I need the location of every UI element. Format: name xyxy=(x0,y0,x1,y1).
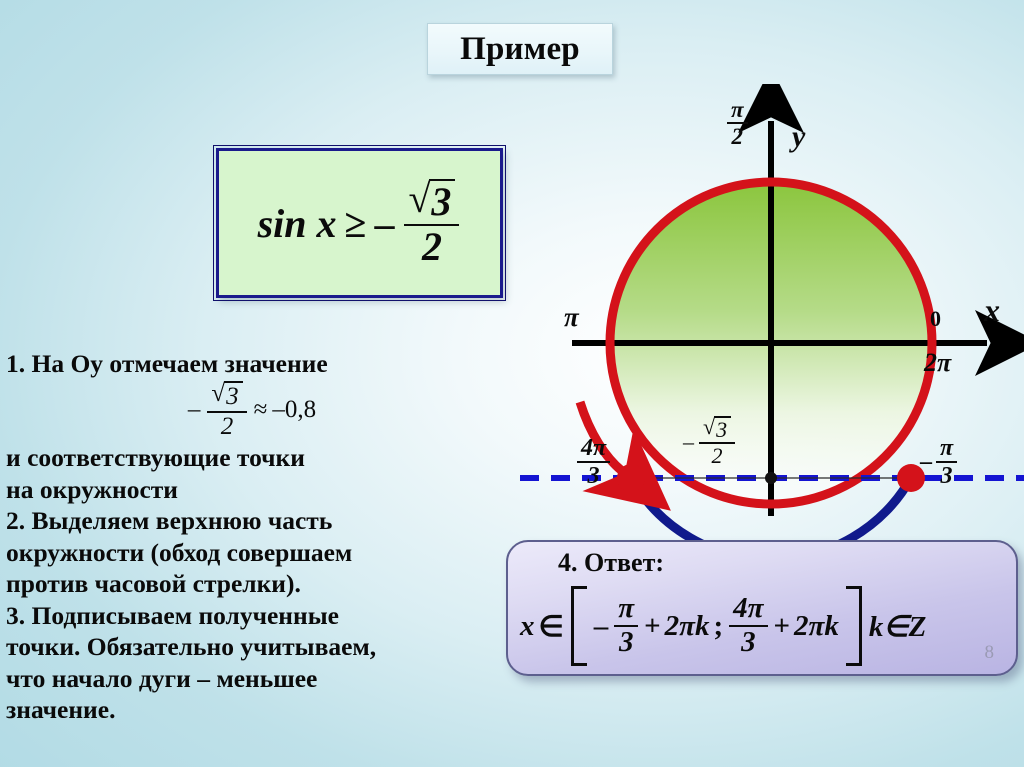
slide-canvas: Пример sin x ≥ – √ 3 2 1. На Оу отмечаем… xyxy=(0,0,1024,767)
slide-title-box: Пример xyxy=(427,23,613,75)
answer-plus-1: + xyxy=(644,610,661,643)
formula-relation: ≥ xyxy=(345,200,367,247)
bracket-right-icon xyxy=(846,586,862,666)
label-two-pi: 2π xyxy=(924,348,951,378)
bracket-left-icon xyxy=(571,586,587,666)
sqrt-icon: √ 3 xyxy=(703,416,731,441)
page-title: Пример xyxy=(460,31,580,68)
step2-line3: против часовой стрелки). xyxy=(6,568,498,599)
label-pi: π xyxy=(564,302,579,333)
label-zero: 0 xyxy=(930,306,941,332)
step3-line4: значение. xyxy=(6,694,498,725)
steps-text-block: 1. На Оу отмечаем значение – √ 3 2 ≈ –0,… xyxy=(6,348,498,726)
step3-line1: 3. Подписываем полученные xyxy=(6,600,498,631)
answer-variable: x xyxy=(520,610,535,643)
answer-period-2: 2πk xyxy=(794,610,839,643)
answer-minus: – xyxy=(594,610,609,643)
intersection-point-left[interactable] xyxy=(617,464,645,492)
answer-suffix: k∈Z xyxy=(869,609,926,644)
inline-fraction-denominator: 2 xyxy=(217,413,238,440)
inline-fraction: √ 3 2 xyxy=(207,381,246,439)
axis-label-y: y xyxy=(792,120,805,154)
unit-circle-diagram: π 2 y π 0 2π x 4π 3 – π 3 xyxy=(520,84,1024,544)
label-pi-over-two: π 2 xyxy=(725,98,750,149)
label-four-pi-over-three: 4π 3 xyxy=(575,436,612,489)
sqrt-icon: √ 3 xyxy=(211,381,242,410)
formula-minus: – xyxy=(374,200,394,247)
inline-value-formula: – √ 3 2 ≈ –0,8 xyxy=(188,381,316,439)
inequality-expression: sin x ≥ – √ 3 2 xyxy=(258,179,462,268)
formula-lhs: sin x xyxy=(258,200,337,247)
element-of-sign: ∈ xyxy=(539,609,564,644)
answer-separator: ; xyxy=(713,610,723,643)
inline-fraction-numerator: √ 3 xyxy=(207,381,246,413)
slide-number: 8 xyxy=(985,642,995,664)
answer-term2-fraction: 4π 3 xyxy=(729,594,767,657)
answer-formula: x ∈ – π 3 + 2πk ; 4π 3 + 2πk k∈Z xyxy=(520,586,926,666)
step1-line1: 1. На Оу отмечаем значение xyxy=(6,348,498,379)
answer-period-1: 2πk xyxy=(665,610,710,643)
approx-sign: ≈ xyxy=(254,395,268,426)
axis-label-x: x xyxy=(984,292,1000,329)
formula-fraction-numerator: √ 3 xyxy=(404,179,459,226)
label-value-neg-sqrt3-over-2: – √ 3 2 xyxy=(683,416,737,468)
formula-fraction: √ 3 2 xyxy=(404,179,459,268)
answer-plus-2: + xyxy=(774,610,791,643)
step2-line1: 2. Выделяем верхнюю часть xyxy=(6,505,498,536)
step1-line3: на окружности xyxy=(6,474,498,505)
answer-box: 4. Ответ: x ∈ – π 3 + 2πk ; 4π 3 + 2πk k… xyxy=(506,540,1018,676)
label-negative-pi-over-three: – π 3 xyxy=(920,436,959,489)
inline-approx-value: –0,8 xyxy=(272,395,316,426)
value-marker-dot xyxy=(765,472,777,484)
inequality-formula-box: sin x ≥ – √ 3 2 xyxy=(216,148,503,298)
step3-line2: точки. Обязательно учитываем, xyxy=(6,631,498,662)
step2-line2: окружности (обход совершаем xyxy=(6,537,498,568)
formula-fraction-denominator: 2 xyxy=(418,226,446,268)
sqrt-icon: √ 3 xyxy=(408,179,455,223)
inline-minus: – xyxy=(188,395,201,426)
inline-value-formula-wrap: – √ 3 2 ≈ –0,8 xyxy=(6,379,498,442)
step3-line3: что начало дуги – меньшее xyxy=(6,663,498,694)
answer-term1-fraction: π 3 xyxy=(614,594,638,657)
step1-line2: и соответствующие точки xyxy=(6,442,498,473)
answer-title: 4. Ответ: xyxy=(558,548,664,578)
